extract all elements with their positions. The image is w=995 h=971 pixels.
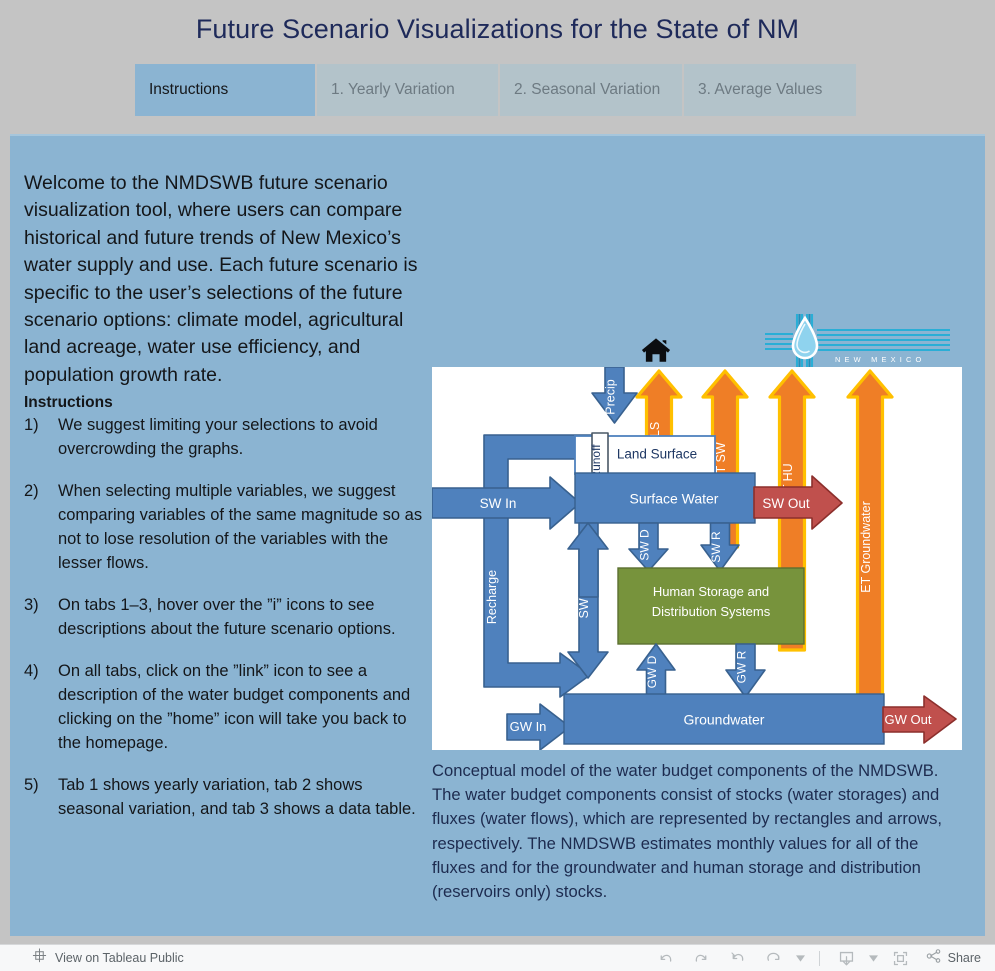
bottom-toolbar: View on Tableau Public [0, 944, 995, 971]
instruction-item: 4) On all tabs, click on the ”link” icon… [24, 659, 424, 755]
diagram-figure: ET Groundwater ET HU ET SW ET LS Precip [432, 367, 962, 904]
logo-state-line: NEW MEXICO [835, 355, 925, 364]
toolbar-separator [819, 951, 820, 966]
instruction-text: On all tabs, click on the ”link” icon to… [58, 659, 424, 755]
pause-caret-icon[interactable] [793, 946, 809, 970]
share-button[interactable]: Share [926, 948, 981, 969]
flux-label-gw-d: GW D [645, 655, 659, 688]
flux-label-sw-in: SW In [480, 496, 517, 511]
instructions-heading: Instructions [24, 394, 424, 412]
stock-surface-water: Surface Water [575, 473, 755, 523]
instruction-number: 3) [24, 593, 58, 641]
instruction-number: 2) [24, 479, 58, 575]
stock-label-surface-water: Surface Water [630, 491, 719, 507]
revert-button[interactable] [721, 946, 755, 970]
stock-label-land-surface: Land Surface [617, 447, 697, 462]
instructions-block: Instructions 1) We suggest limiting your… [24, 394, 424, 839]
stock-label-human-storage-line1: Human Storage and [653, 584, 769, 599]
tableau-logo-icon [32, 948, 47, 968]
download-button[interactable] [830, 946, 864, 970]
diagram-caption: Conceptual model of the water budget com… [432, 759, 960, 904]
tab-average-values[interactable]: 3. Average Values [684, 64, 856, 116]
toolbar-actions: Share [649, 946, 987, 970]
flux-label-precip: Precip [604, 379, 618, 414]
intro-paragraph: Welcome to the NMDSWB future scenario vi… [24, 170, 444, 389]
flux-label-gw-r: GW R [735, 650, 749, 683]
tab-label: Instructions [149, 81, 228, 99]
flux-label-gw-in: GW In [510, 719, 547, 734]
tab-instructions[interactable]: Instructions [135, 64, 315, 116]
tab-yearly-variation[interactable]: 1. Yearly Variation [317, 64, 498, 116]
instruction-text: Tab 1 shows yearly variation, tab 2 show… [58, 773, 424, 821]
view-on-tableau-public-label: View on Tableau Public [55, 951, 184, 965]
tab-label: 3. Average Values [698, 81, 822, 99]
refresh-button[interactable] [757, 946, 791, 970]
tab-label: 1. Yearly Variation [331, 81, 455, 99]
stock-human-storage: Human Storage and Distribution Systems [618, 568, 804, 644]
undo-button[interactable] [649, 946, 683, 970]
download-caret-icon[interactable] [866, 946, 882, 970]
instruction-item: 1) We suggest limiting your selections t… [24, 413, 424, 461]
flux-label-gw-out: GW Out [885, 712, 932, 727]
stock-label-groundwater: Groundwater [684, 712, 765, 728]
fullscreen-button[interactable] [884, 946, 918, 970]
instruction-text: On tabs 1–3, hover over the ”i” icons to… [58, 593, 424, 641]
instruction-text: When selecting multiple variables, we su… [58, 479, 424, 575]
flux-label-et-groundwater: ET Groundwater [859, 501, 873, 592]
flux-label-sw-d: SW D [638, 529, 652, 561]
instruction-item: 3) On tabs 1–3, hover over the ”i” icons… [24, 593, 424, 641]
instruction-text: We suggest limiting your selections to a… [58, 413, 424, 461]
share-label: Share [948, 951, 981, 965]
instruction-item: 2) When selecting multiple variables, we… [24, 479, 424, 575]
tab-seasonal-variation[interactable]: 2. Seasonal Variation [500, 64, 682, 116]
water-budget-diagram: ET Groundwater ET HU ET SW ET LS Precip [432, 367, 962, 750]
instruction-item: 5) Tab 1 shows yearly variation, tab 2 s… [24, 773, 424, 821]
page-title: Future Scenario Visualizations for the S… [0, 0, 995, 52]
instruction-number: 4) [24, 659, 58, 755]
share-icon [926, 948, 942, 969]
instruction-number: 1) [24, 413, 58, 461]
flux-label-recharge: Recharge [485, 570, 499, 624]
home-icon[interactable] [632, 328, 680, 372]
redo-button[interactable] [685, 946, 719, 970]
view-on-tableau-public-link[interactable]: View on Tableau Public [32, 948, 184, 968]
flux-label-sw-r: SW R [709, 531, 723, 563]
tab-bar: Instructions 1. Yearly Variation 2. Seas… [135, 64, 856, 116]
tab-label: 2. Seasonal Variation [514, 81, 660, 99]
instruction-number: 5) [24, 773, 58, 821]
flux-label-sw-out: SW Out [762, 496, 810, 511]
stock-label-human-storage-line2: Distribution Systems [652, 604, 771, 619]
stock-groundwater: Groundwater [564, 694, 884, 744]
content-panel: Welcome to the NMDSWB future scenario vi… [10, 134, 985, 936]
